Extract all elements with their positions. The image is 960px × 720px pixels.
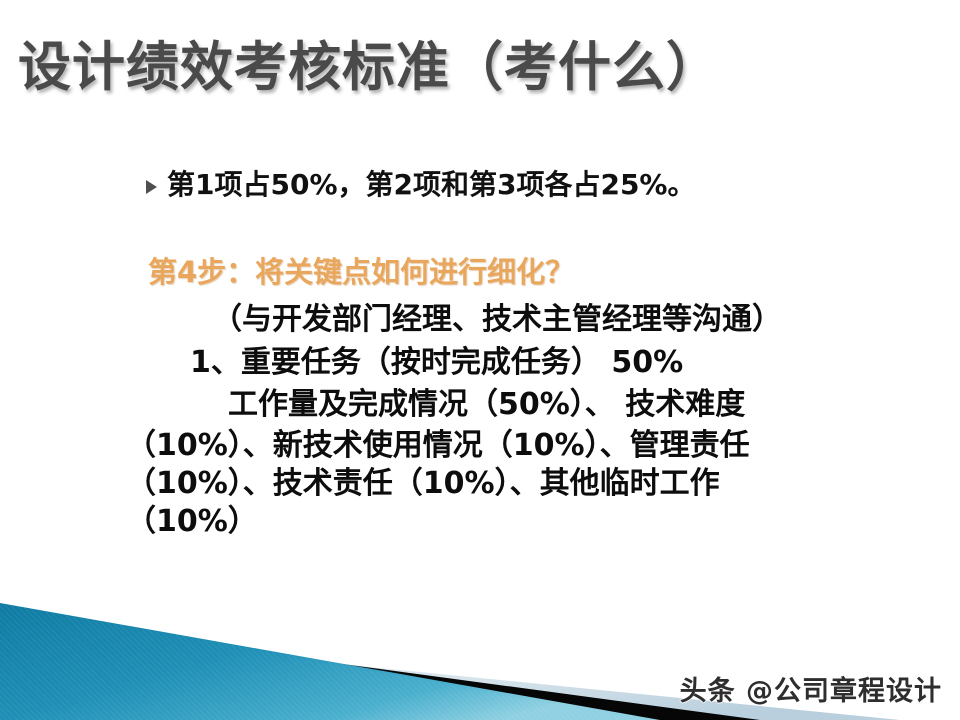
section-heading: 第4步：将关键点如何进行细化？ [0,254,960,292]
detail-line-5: （10%）、技术责任（10%）、其他临时工作 [0,465,960,503]
detail-line-1: （与开发部门经理、技术主管经理等沟通） [0,301,960,339]
banner-black-band [0,618,760,720]
page-title: 设计绩效考核标准（考什么） [18,38,918,99]
presentation-slide: 设计绩效考核标准（考什么） 第1项占50%，第2项和第3项各占25%。 第4步：… [0,0,960,720]
detail-line-2: 1、重要任务（按时完成任务） 50% [0,344,960,382]
bullet-item-label: 第1项占50%，第2项和第3项各占25%。 [167,166,696,204]
banner-teal-wedge [0,603,660,720]
bullet-item: 第1项占50%，第2项和第3项各占25%。 [0,166,960,204]
slide-body: 第1项占50%，第2项和第3项各占25%。 第4步：将关键点如何进行细化？ （与… [0,166,960,542]
detail-line-4: （10%）、新技术使用情况（10%）、管理责任 [0,427,960,465]
detail-line-6: （10%） [0,503,960,541]
watermark-text: 头条 @公司章程设计 [680,669,942,708]
detail-line-3: 工作量及完成情况（50%）、 技术难度 [0,386,960,424]
triangle-bullet-icon [146,180,157,194]
